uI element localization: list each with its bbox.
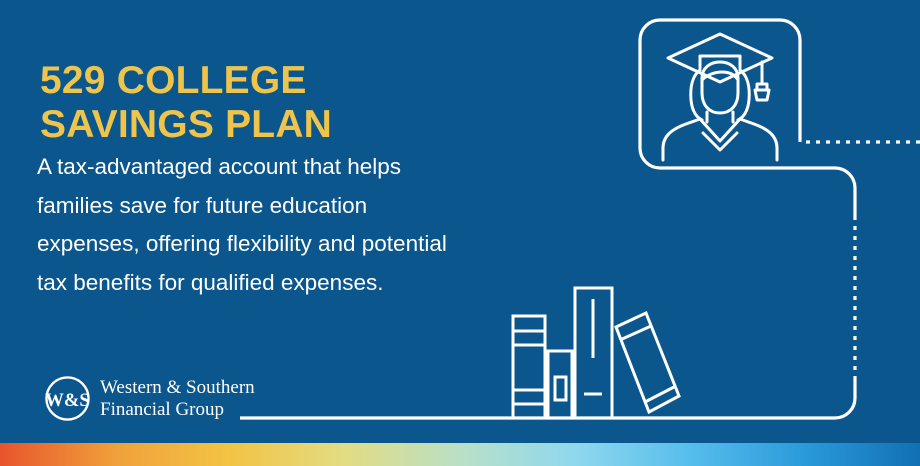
svg-text:W&S: W&S [45,390,89,411]
brand-name-line-1: Western & Southern [100,377,255,398]
stack-of-books-icon [513,288,679,418]
description-line-4: tax benefits for qualified expenses. [37,264,537,303]
description-line-3: expenses, offering flexibility and poten… [37,225,537,264]
description-line-1: A tax-advantaged account that helps [37,148,537,187]
brand-logo: W&S Western & Southern Financial Group [44,375,255,422]
title-line-2: SAVINGS PLAN [40,103,460,147]
bottom-gradient-bar [0,443,920,466]
graduate-student-icon [663,34,777,160]
title-line-1: 529 COLLEGE [40,59,460,103]
page-title: 529 COLLEGE SAVINGS PLAN [40,59,460,147]
graduate-frame [640,20,800,168]
description-line-2: families save for future education [37,187,537,226]
infographic-canvas: 529 COLLEGE SAVINGS PLAN A tax-advantage… [0,0,920,466]
ws-monogram-icon: W&S [44,375,91,422]
brand-name: Western & Southern Financial Group [100,377,255,420]
brand-name-line-2: Financial Group [100,399,255,420]
description-text: A tax-advantaged account that helps fami… [37,148,537,303]
